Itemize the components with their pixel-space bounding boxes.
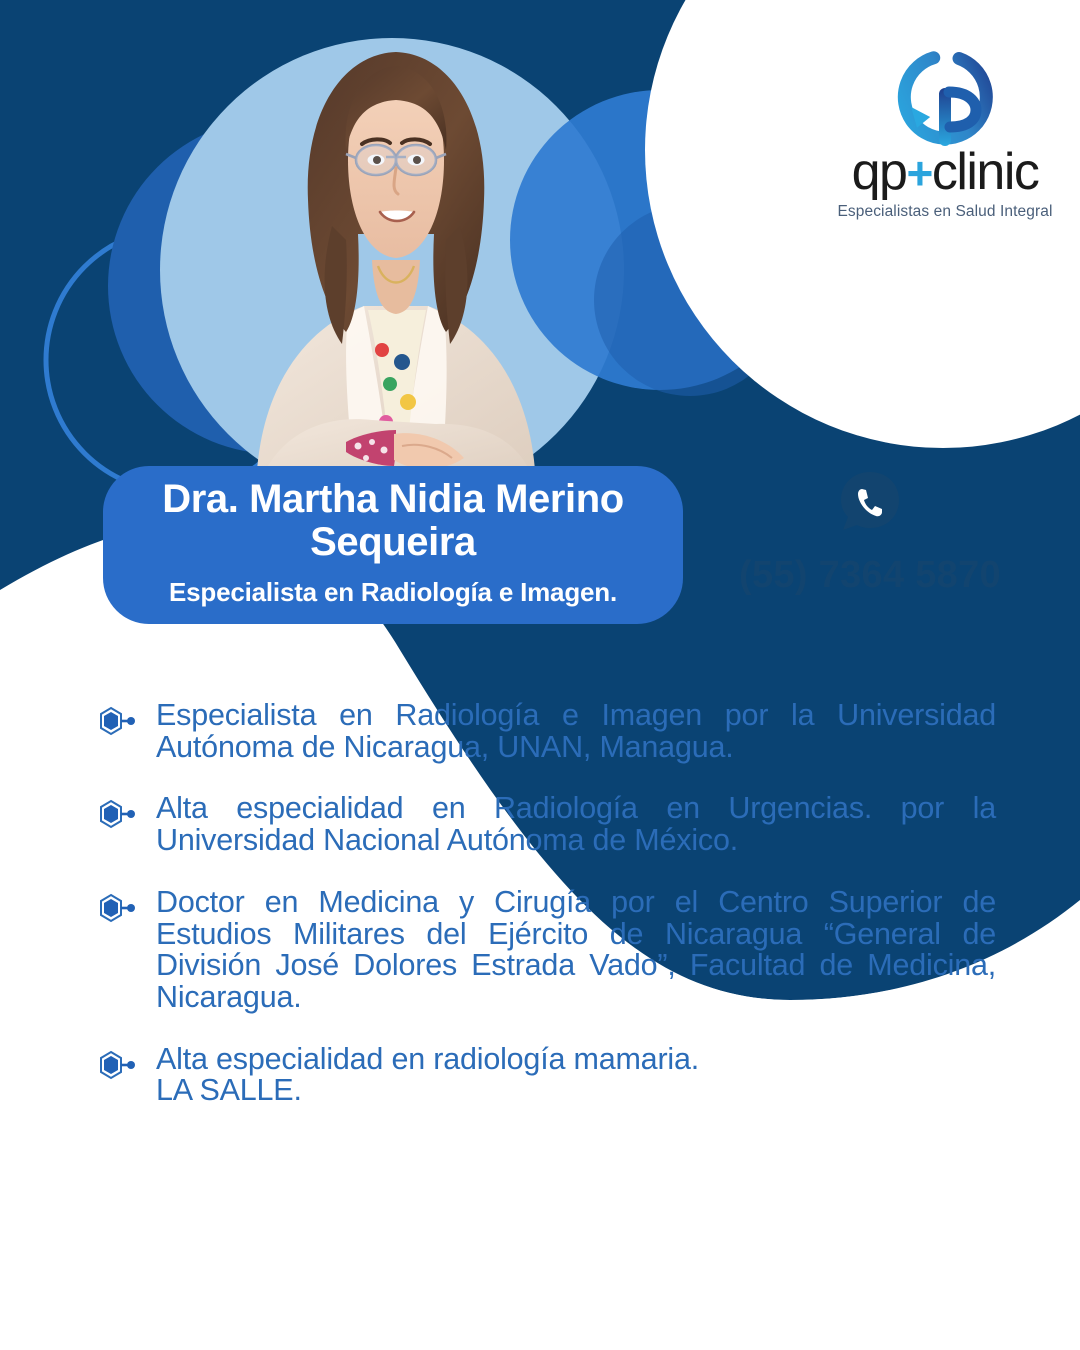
logo-word-qp: qp [852, 143, 907, 201]
logo-tagline: Especialistas en Salud Integral [826, 203, 1064, 221]
doctor-name: Dra. Martha Nidia Merino Sequeira [129, 478, 657, 564]
credential-text: Especialista en Radiología e Imagen por … [156, 700, 996, 763]
brand-logo: qp+clinic Especialistas en Salud Integra… [826, 42, 1064, 214]
credential-text: Alta especialidad en Radiología en Urgen… [156, 793, 996, 856]
doctor-portrait-photo [196, 10, 596, 490]
credential-text: Doctor en Medicina y Cirugía por el Cent… [156, 887, 996, 1014]
poster-canvas: qp+clinic Especialistas en Salud Integra… [0, 0, 1080, 1350]
logo-word-clinic: clinic [932, 143, 1039, 201]
credential-text-line1: Alta especialidad en radiología mamaria. [156, 1044, 996, 1076]
credential-item: Especialista en Radiología e Imagen por … [96, 700, 996, 763]
credential-text-line2: LA SALLE. [156, 1075, 996, 1107]
phone-number[interactable]: (55) 7364 5870 [700, 554, 1040, 597]
whatsapp-phone-icon[interactable] [835, 468, 905, 538]
credential-item: Doctor en Medicina y Cirugía por el Cent… [96, 887, 996, 1014]
circular-arrow-p-icon [826, 42, 1064, 150]
credentials-list: Especialista en Radiología e Imagen por … [96, 700, 996, 1107]
hexagon-node-bullet-icon [96, 1050, 140, 1084]
credential-text: Alta especialidad en radiología mamaria.… [156, 1044, 996, 1107]
credential-item: Alta especialidad en radiología mamaria.… [96, 1044, 996, 1107]
doctor-name-badge: Dra. Martha Nidia Merino Sequeira Especi… [103, 466, 683, 624]
hexagon-node-bullet-icon [96, 893, 140, 927]
credential-item: Alta especialidad en Radiología en Urgen… [96, 793, 996, 856]
hexagon-node-bullet-icon [96, 799, 140, 833]
contact-block[interactable]: (55) 7364 5870 [700, 468, 1040, 597]
doctor-specialty: Especialista en Radiología e Imagen. [169, 577, 617, 608]
logo-plus-icon: + [906, 147, 931, 199]
hexagon-node-bullet-icon [96, 706, 140, 740]
logo-wordmark: qp+clinic [826, 146, 1064, 198]
